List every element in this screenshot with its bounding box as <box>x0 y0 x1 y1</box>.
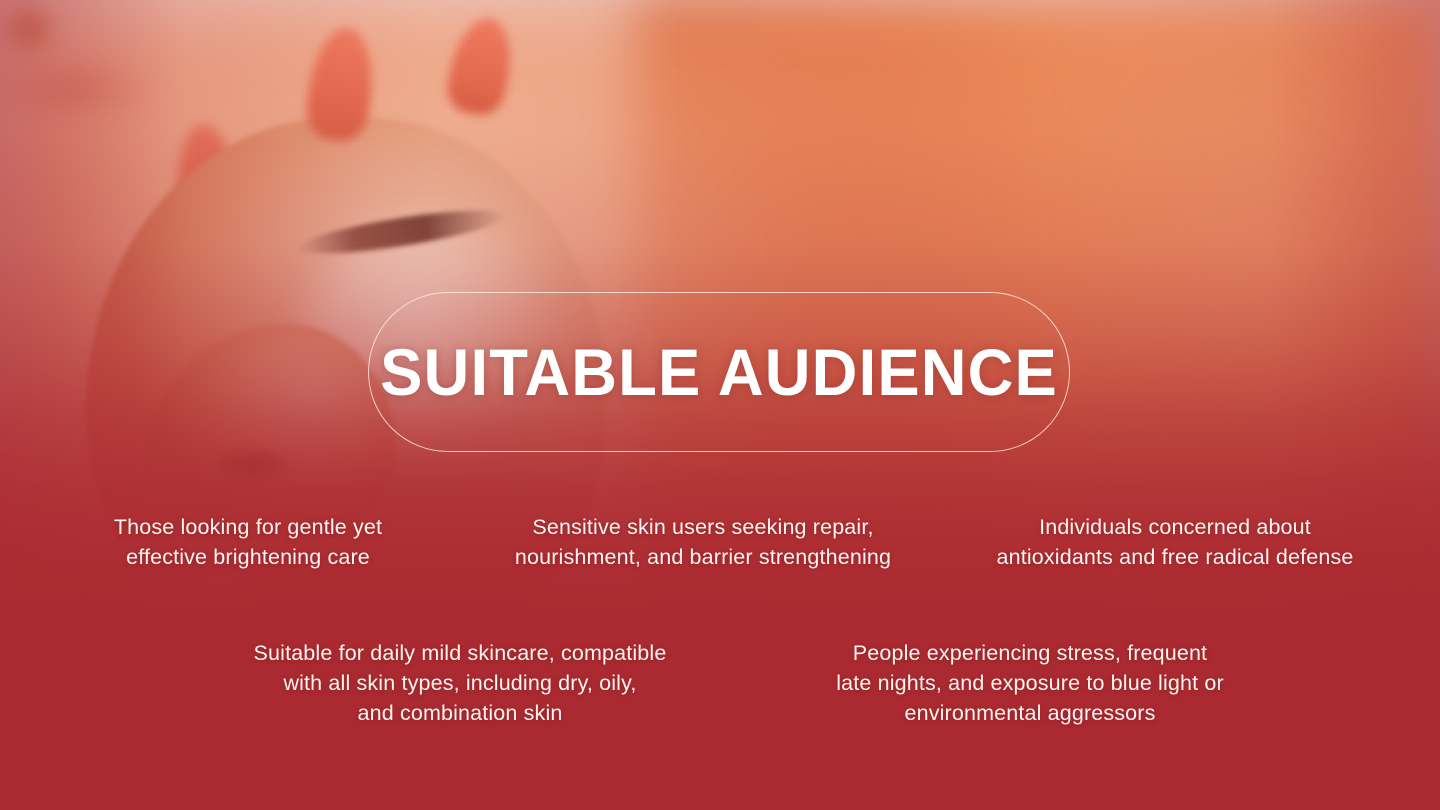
audience-item: Suitable for daily mild skincare, compat… <box>180 638 740 728</box>
audience-row-top: Those looking for gentle yet effective b… <box>0 512 1440 572</box>
audience-item: Individuals concerned about antioxidants… <box>940 512 1410 572</box>
audience-item: People experiencing stress, frequent lat… <box>750 638 1310 728</box>
audience-item: Sensitive skin users seeking repair, nou… <box>468 512 938 572</box>
audience-row-bottom: Suitable for daily mild skincare, compat… <box>0 638 1440 728</box>
page-title: SUITABLE AUDIENCE <box>380 339 1058 405</box>
audience-item: Those looking for gentle yet effective b… <box>28 512 468 572</box>
title-pill: SUITABLE AUDIENCE <box>368 292 1070 452</box>
slide-canvas: SUITABLE AUDIENCE Those looking for gent… <box>0 0 1440 810</box>
